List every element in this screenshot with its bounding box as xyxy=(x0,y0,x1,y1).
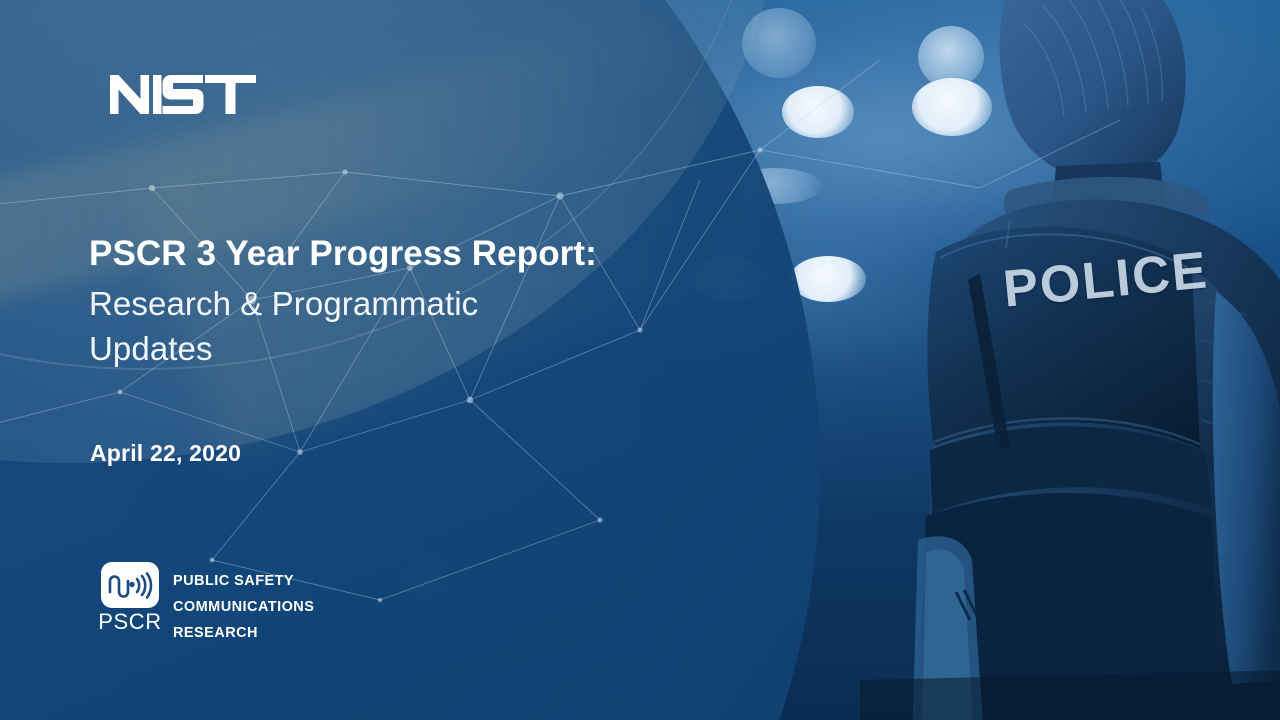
pscr-mark: PSCR xyxy=(96,562,164,633)
title-block: PSCR 3 Year Progress Report: Research & … xyxy=(89,234,729,372)
page-title: PSCR 3 Year Progress Report: xyxy=(89,234,729,275)
nist-logo xyxy=(110,66,256,116)
pscr-logo-lockup: PSCR PUBLIC SAFETY COMMUNICATIONS RESEAR… xyxy=(96,562,314,646)
pscr-wordmark-line-3: RESEARCH xyxy=(173,621,314,647)
wireless-signal-icon xyxy=(107,570,153,600)
pscr-badge xyxy=(101,562,159,608)
pscr-abbreviation: PSCR xyxy=(98,611,162,633)
subtitle-line-2: Updates xyxy=(89,326,729,372)
page-subtitle: Research & Programmatic Updates xyxy=(89,281,729,372)
signal-node-dot xyxy=(129,582,134,587)
pscr-wordmark-line-1: PUBLIC SAFETY xyxy=(173,569,314,595)
presentation-slide: POLICE xyxy=(0,0,1280,720)
subtitle-line-1: Research & Programmatic xyxy=(89,281,729,327)
slide-date: April 22, 2020 xyxy=(90,440,241,467)
pscr-wordmark-line-2: COMMUNICATIONS xyxy=(173,595,314,621)
pscr-wordmark: PUBLIC SAFETY COMMUNICATIONS RESEARCH xyxy=(173,569,314,646)
